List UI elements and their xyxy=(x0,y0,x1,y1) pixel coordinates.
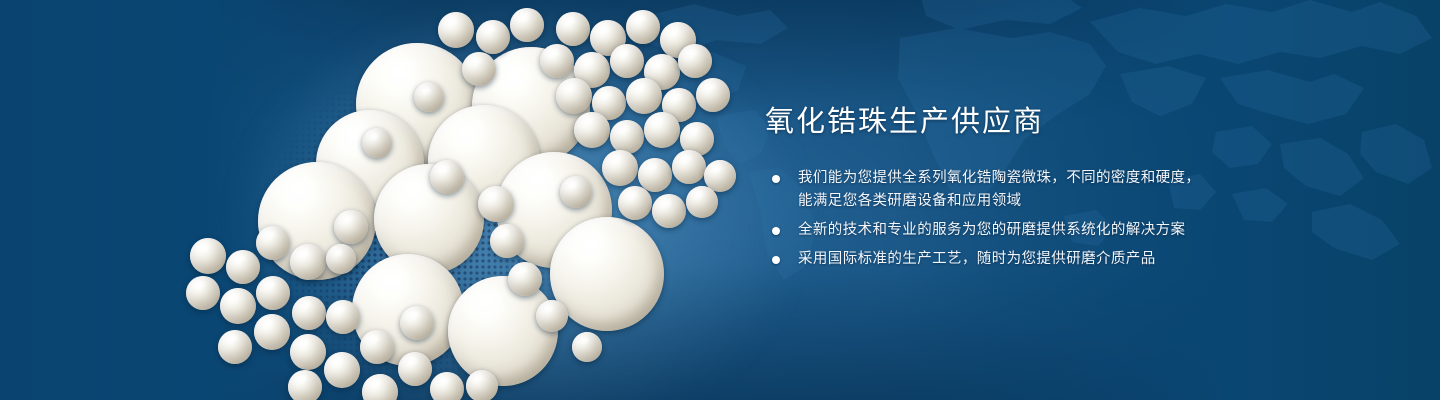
hero-banner: 氧化锆珠生产供应商 我们能为您提供全系列氧化锆陶瓷微珠，不同的密度和硬度， 能满… xyxy=(0,0,1440,400)
list-item-line-1: 我们能为您提供全系列氧化锆陶瓷微珠，不同的密度和硬度， xyxy=(798,170,1200,186)
banner-copy: 氧化锆珠生产供应商 我们能为您提供全系列氧化锆陶瓷微珠，不同的密度和硬度， 能满… xyxy=(765,104,1385,277)
list-item-line-1: 采用国际标准的生产工艺，随时为您提供研磨介质产品 xyxy=(798,251,1156,267)
bullet-dot-icon xyxy=(772,175,780,183)
list-item-line-1: 全新的技术和专业的服务为您的研磨提供系统化的解决方案 xyxy=(798,222,1185,238)
list-item-line-2: 能满足您各类研磨设备和应用领域 xyxy=(798,190,1385,213)
list-item: 采用国际标准的生产工艺，随时为您提供研磨介质产品 xyxy=(765,248,1385,271)
bullet-dot-icon xyxy=(772,256,780,264)
page-title: 氧化锆珠生产供应商 xyxy=(765,104,1385,142)
feature-list: 我们能为您提供全系列氧化锆陶瓷微珠，不同的密度和硬度， 能满足您各类研磨设备和应… xyxy=(765,167,1385,271)
bullet-dot-icon xyxy=(772,227,780,235)
zirconia-beads-photo xyxy=(0,0,760,400)
list-item: 我们能为您提供全系列氧化锆陶瓷微珠，不同的密度和硬度， 能满足您各类研磨设备和应… xyxy=(765,167,1385,213)
list-item: 全新的技术和专业的服务为您的研磨提供系统化的解决方案 xyxy=(765,219,1385,242)
